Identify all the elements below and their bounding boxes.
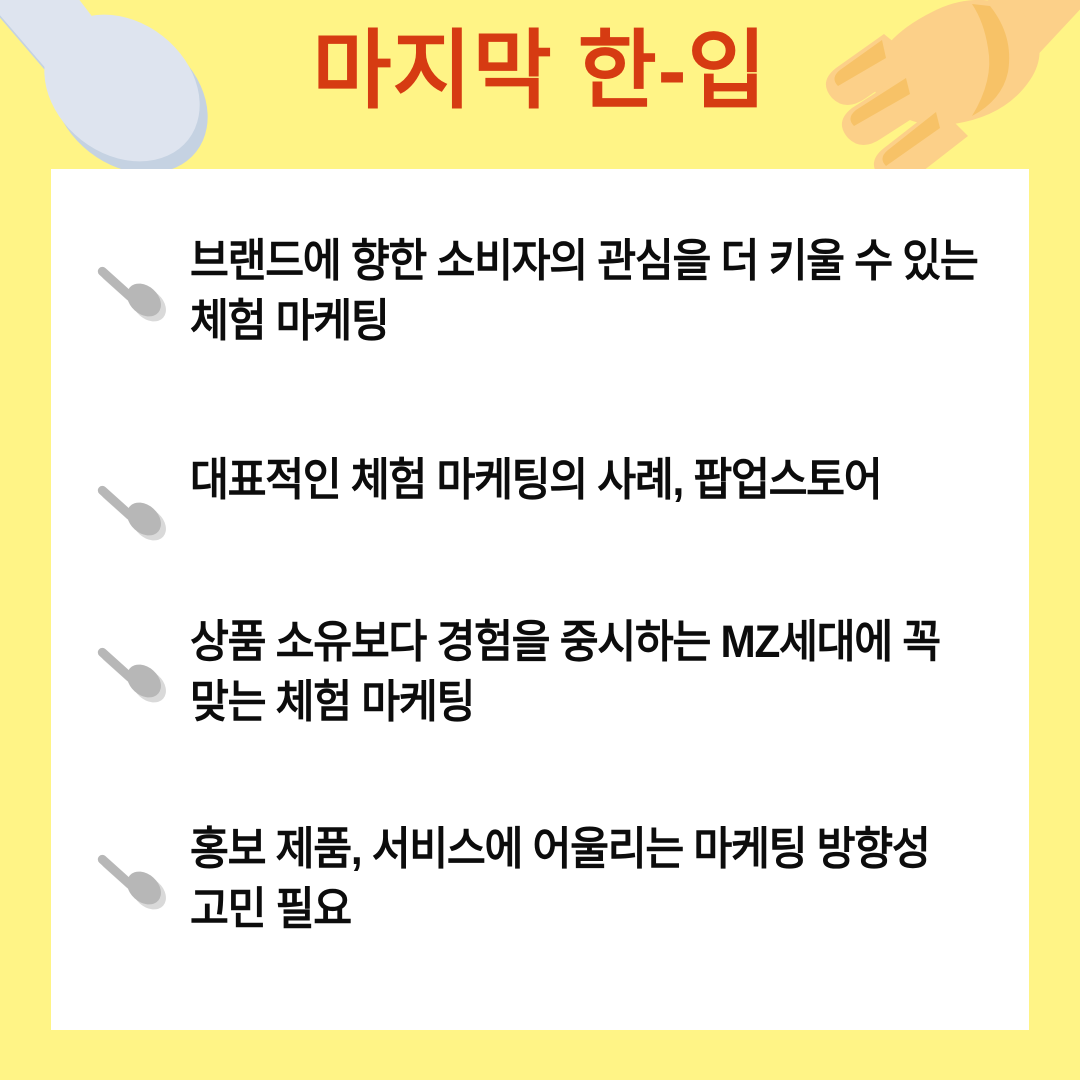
list-item-label: 대표적인 체험 마케팅의 사례, 팝업스토어 — [190, 450, 979, 510]
list-item: 브랜드에 향한 소비자의 관심을 더 키울 수 있는 체험 마케팅 — [97, 231, 1029, 352]
spoon-bullet-icon — [95, 466, 181, 552]
list-item: 상품 소유보다 경험을 중시하는 MZ세대에 꼭 맞는 체험 마케팅 — [97, 612, 1029, 733]
list-item: 홍보 제품, 서비스에 어울리는 마케팅 방향성 고민 필요 — [97, 819, 1029, 940]
page-title: 마지막 한-입 — [0, 26, 1080, 116]
spoon-bullet-icon — [95, 835, 181, 921]
content-panel: 브랜드에 향한 소비자의 관심을 더 키울 수 있는 체험 마케팅 — [51, 169, 1029, 1030]
spoon-bullet-icon — [95, 628, 181, 714]
summary-card: 마지막 한-입 브랜드에 향한 소비자의 — [0, 0, 1080, 1080]
spoon-bullet-icon — [95, 247, 181, 333]
list-item-label: 홍보 제품, 서비스에 어울리는 마케팅 방향성 고민 필요 — [190, 819, 979, 940]
list-item-label: 상품 소유보다 경험을 중시하는 MZ세대에 꼭 맞는 체험 마케팅 — [190, 612, 979, 733]
bullet-list: 브랜드에 향한 소비자의 관심을 더 키울 수 있는 체험 마케팅 — [51, 169, 1029, 1030]
list-item: 대표적인 체험 마케팅의 사례, 팝업스토어 — [97, 450, 1029, 552]
list-item-label: 브랜드에 향한 소비자의 관심을 더 키울 수 있는 체험 마케팅 — [190, 231, 979, 352]
